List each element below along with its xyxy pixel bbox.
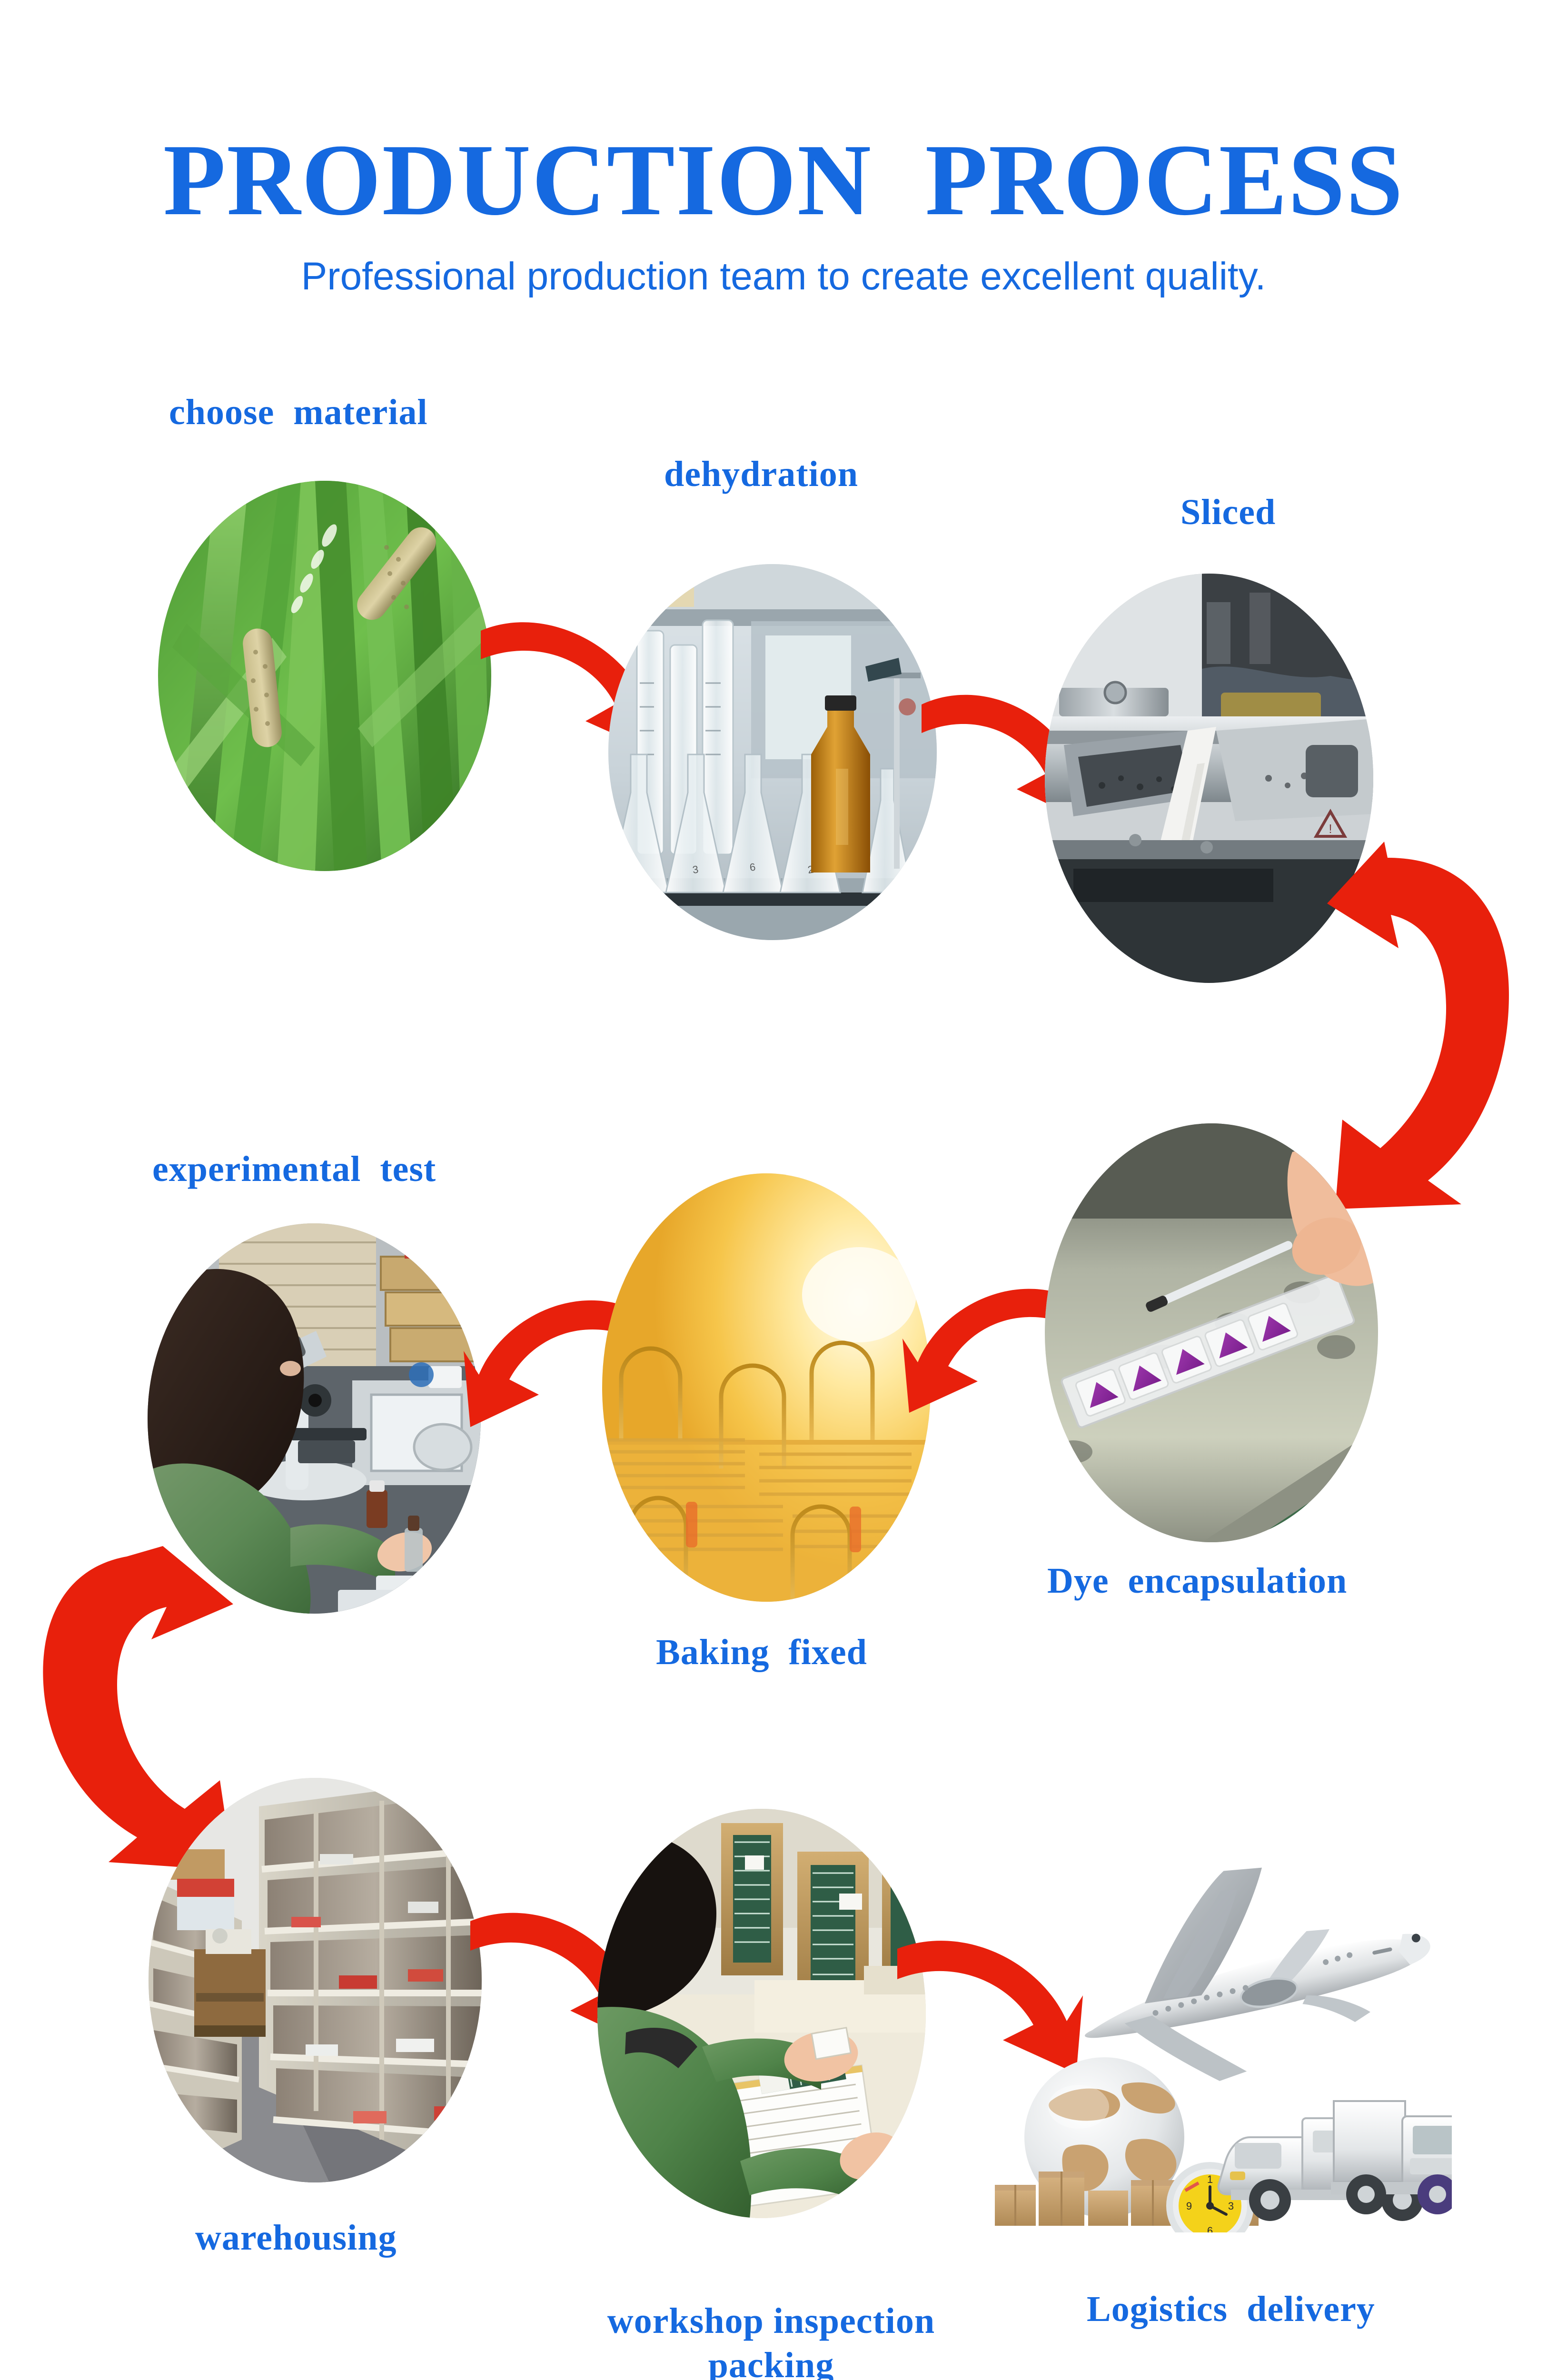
svg-text:5: 5: [625, 858, 633, 871]
svg-text:9: 9: [1186, 2200, 1192, 2212]
svg-text:6: 6: [1207, 2225, 1213, 2232]
svg-text:1: 1: [1207, 2173, 1213, 2185]
infographic-canvas: PRODUCTION PROCESS Professional producti…: [0, 0, 1567, 2380]
svg-text:3: 3: [1228, 2200, 1234, 2212]
photo-dehydration: 5 3 6 2: [608, 564, 937, 940]
step-label-baking-fixed: Baking fixed: [656, 1630, 867, 1675]
step-label-choose-material: choose material: [169, 390, 428, 435]
photo-choose-material: [158, 481, 491, 871]
page-subtitle: Professional production team to create e…: [0, 257, 1567, 296]
page-title: PRODUCTION PROCESS: [0, 129, 1567, 231]
workshop-label-text: workshop inspection packing: [607, 2301, 935, 2380]
photo-baking-fixed: [602, 1173, 931, 1602]
photo-workshop-inspection-packing: [597, 1809, 926, 2218]
photo-dye-encapsulation: [1045, 1123, 1378, 1542]
step-label-logistics-delivery: Logistics delivery: [1087, 2287, 1375, 2331]
step-label-dye-encapsulation: Dye encapsulation: [1047, 1559, 1347, 1603]
photo-logistics-delivery: 1936: [966, 1852, 1452, 2232]
step-label-warehousing: warehousing: [195, 2216, 397, 2260]
step-label-sliced: Sliced: [1180, 490, 1276, 535]
step-label-experimental-test: experimental test: [152, 1147, 436, 1191]
photo-warehousing: [149, 1778, 482, 2182]
arrow-sliced-to-dye: [1285, 828, 1561, 1223]
step-label-workshop-inspection-packing: workshop inspection packing: [607, 2299, 935, 2380]
step-label-dehydration: dehydration: [664, 452, 858, 496]
